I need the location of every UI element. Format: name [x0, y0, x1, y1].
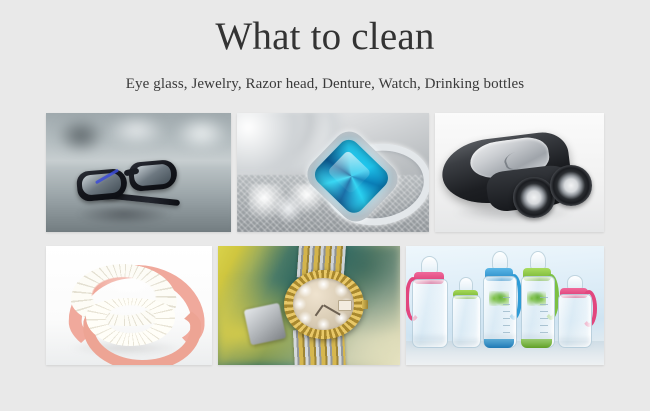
gallery-row-1: [46, 113, 604, 232]
bottle-5-pink: [558, 277, 590, 348]
bottle-5-reflection: [558, 338, 590, 348]
glasses-reflection: [76, 203, 172, 224]
razor-rotary-head-right: [550, 165, 592, 205]
watch-photo: [218, 246, 400, 365]
bottle-3-reflection: [483, 335, 515, 348]
page-title: What to clean: [0, 0, 650, 60]
diamond-sparkles: [249, 184, 326, 224]
razor-head-photo: [435, 113, 604, 232]
gallery-tile-drinking-bottles[interactable]: [406, 246, 604, 365]
background-blur-center: [109, 115, 165, 146]
gallery-tile-razor-head[interactable]: [435, 113, 604, 232]
denture-photo: [46, 246, 212, 365]
gallery-tile-jewelry[interactable]: [237, 113, 429, 232]
bottle-4-reflection: [521, 335, 553, 348]
bottle-1-pink: [412, 258, 446, 348]
page-root: What to clean Eye glass, Jewelry, Razor …: [0, 0, 650, 411]
gallery-tile-watch[interactable]: [218, 246, 400, 365]
product-gallery: [46, 113, 604, 365]
gallery-tile-eye-glass[interactable]: [46, 113, 231, 232]
razor-rotary-head-left: [513, 177, 555, 217]
bottle-2-green: [452, 279, 480, 348]
bottle-1-reflection: [412, 336, 446, 349]
gallery-tile-denture[interactable]: [46, 246, 212, 365]
page-subtitle: Eye glass, Jewelry, Razor head, Denture,…: [0, 60, 650, 94]
bottle-4-green: [521, 253, 553, 348]
jewelry-photo: [237, 113, 429, 232]
background-blur-left: [57, 118, 105, 154]
glasses-right-lens: [133, 163, 172, 186]
bottle-3-blue: [483, 253, 515, 348]
drinking-bottles-photo: [406, 246, 604, 365]
gallery-row-2: [46, 246, 604, 365]
watch-crown: [362, 300, 368, 310]
bottle-2-reflection: [452, 339, 480, 349]
watch-date-window: [338, 300, 352, 312]
eye-glass-photo: [46, 113, 231, 232]
denture-highlight: [96, 272, 162, 298]
header: What to clean Eye glass, Jewelry, Razor …: [0, 0, 650, 94]
background-blur-right: [176, 117, 228, 150]
